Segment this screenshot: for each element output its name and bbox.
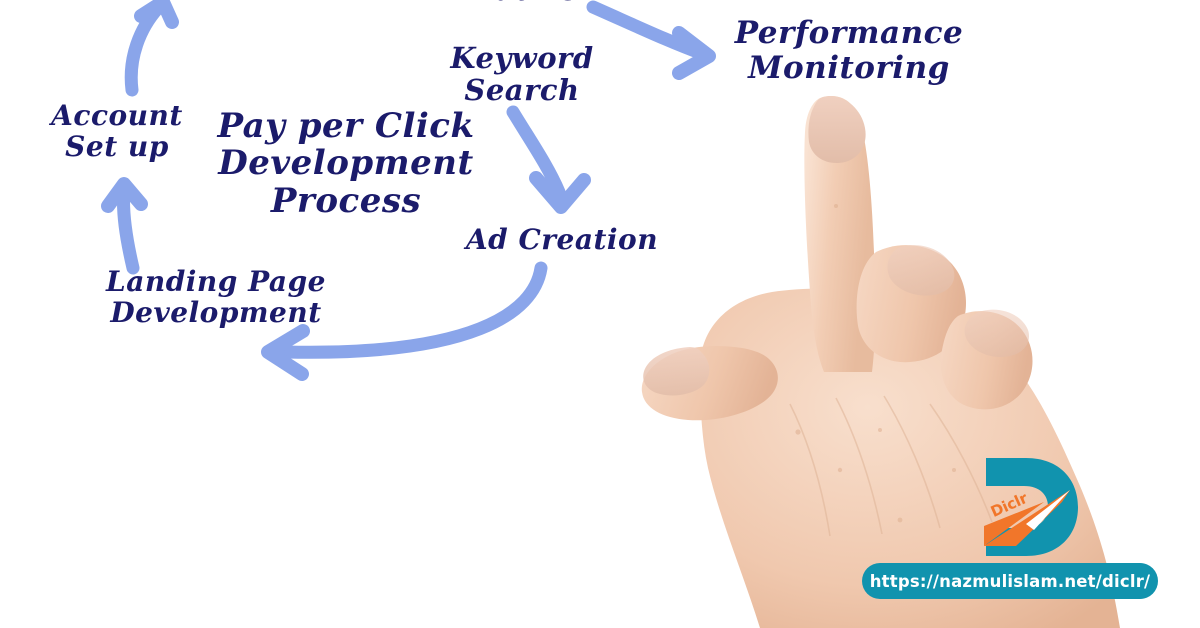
infographic-canvas: Launch Performance Monitoring Account Se…: [0, 0, 1200, 628]
website-url-badge[interactable]: https://nazmulislam.net/diclr/: [862, 563, 1158, 599]
brand-logo[interactable]: Diclr: [974, 452, 1082, 562]
website-url-text: https://nazmulislam.net/diclr/: [870, 572, 1151, 591]
